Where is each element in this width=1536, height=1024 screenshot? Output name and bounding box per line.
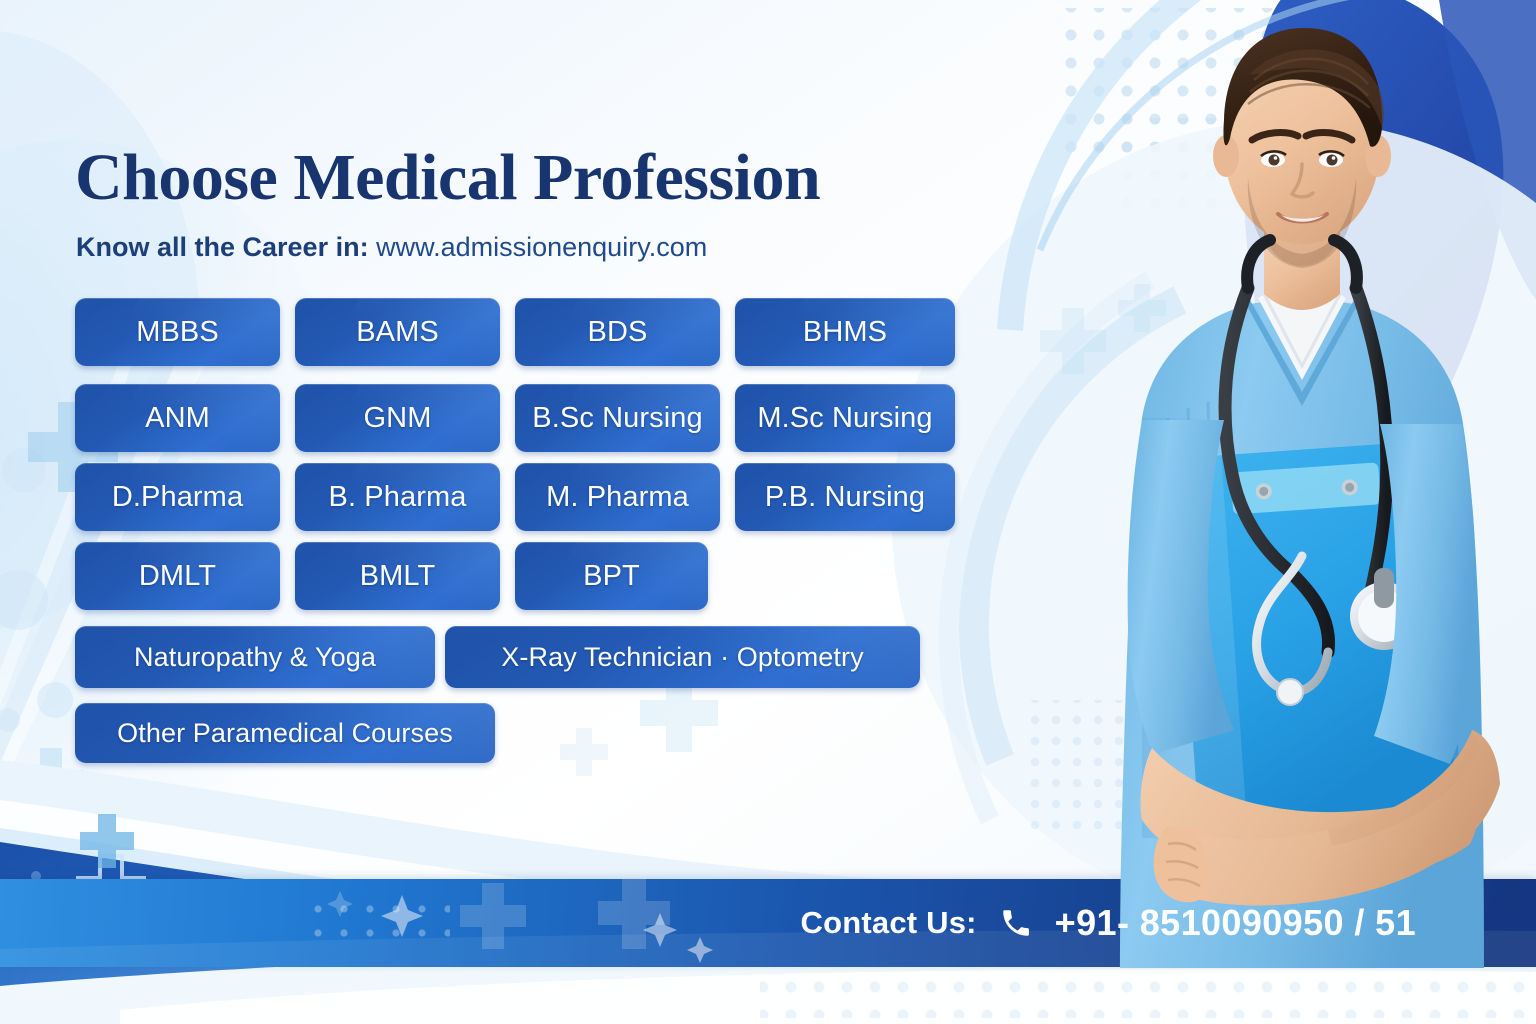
course-pill-label: BAMS xyxy=(356,316,439,349)
website-url[interactable]: www.admissionenquiry.com xyxy=(376,232,707,262)
course-pill[interactable]: M.Sc Nursing xyxy=(735,384,955,452)
course-pill[interactable]: P.B. Nursing xyxy=(735,463,955,531)
promo-banner: Contact Us: +91- 8510090950 / 51 xyxy=(0,0,1536,1024)
course-pill[interactable]: D.Pharma xyxy=(75,463,280,531)
course-pill-label: B.Sc Nursing xyxy=(532,402,702,435)
course-pill[interactable]: B.Sc Nursing xyxy=(515,384,720,452)
course-pill-label: BDS xyxy=(588,316,648,349)
course-pill[interactable]: DMLT xyxy=(75,542,280,610)
course-pill-label: DMLT xyxy=(139,560,216,593)
contact-phone-number[interactable]: +91- 8510090950 / 51 xyxy=(1055,902,1416,944)
course-pill-label: P.B. Nursing xyxy=(765,481,925,514)
course-pill[interactable]: BHMS xyxy=(735,298,955,366)
course-pill[interactable]: M. Pharma xyxy=(515,463,720,531)
contact-bar: Contact Us: +91- 8510090950 / 51 xyxy=(0,879,1536,967)
course-pill[interactable]: X-Ray Technician · Optometry xyxy=(445,626,920,688)
course-pill-label: BHMS xyxy=(803,316,887,349)
course-pill-label: Naturopathy & Yoga xyxy=(134,642,376,673)
course-pill-label: ANM xyxy=(145,402,210,435)
course-pill-label: D.Pharma xyxy=(112,481,243,514)
course-pill[interactable]: B. Pharma xyxy=(295,463,500,531)
course-pill[interactable]: BAMS xyxy=(295,298,500,366)
course-pill-label: MBBS xyxy=(136,316,219,349)
contact-info: Contact Us: +91- 8510090950 / 51 xyxy=(801,879,1416,967)
page-title: Choose Medical Profession xyxy=(75,140,820,216)
course-pill[interactable]: Naturopathy & Yoga xyxy=(75,626,435,688)
course-pill-label: BMLT xyxy=(360,560,436,593)
course-pill[interactable]: ANM xyxy=(75,384,280,452)
course-pill[interactable]: MBBS xyxy=(75,298,280,366)
course-pill-label: Other Paramedical Courses xyxy=(117,718,453,749)
course-pill-label: GNM xyxy=(364,402,432,435)
course-pill-label: X-Ray Technician · Optometry xyxy=(501,642,863,673)
subtitle: Know all the Career in: www.admissionenq… xyxy=(76,232,707,263)
phone-icon xyxy=(999,906,1033,940)
course-pill[interactable]: BDS xyxy=(515,298,720,366)
course-pill[interactable]: BMLT xyxy=(295,542,500,610)
doctor-photo xyxy=(1016,0,1536,968)
contact-label: Contact Us: xyxy=(801,905,977,941)
course-pill[interactable]: GNM xyxy=(295,384,500,452)
course-pill[interactable]: Other Paramedical Courses xyxy=(75,703,495,763)
subtitle-lead: Know all the Career in: xyxy=(76,232,369,262)
healthcare-professional-illustration xyxy=(1016,0,1536,968)
course-pill-label: M.Sc Nursing xyxy=(757,402,932,435)
course-pill-label: BPT xyxy=(583,560,640,593)
course-pill-label: B. Pharma xyxy=(329,481,467,514)
course-pill[interactable]: BPT xyxy=(515,542,708,610)
course-pill-label: M. Pharma xyxy=(546,481,689,514)
